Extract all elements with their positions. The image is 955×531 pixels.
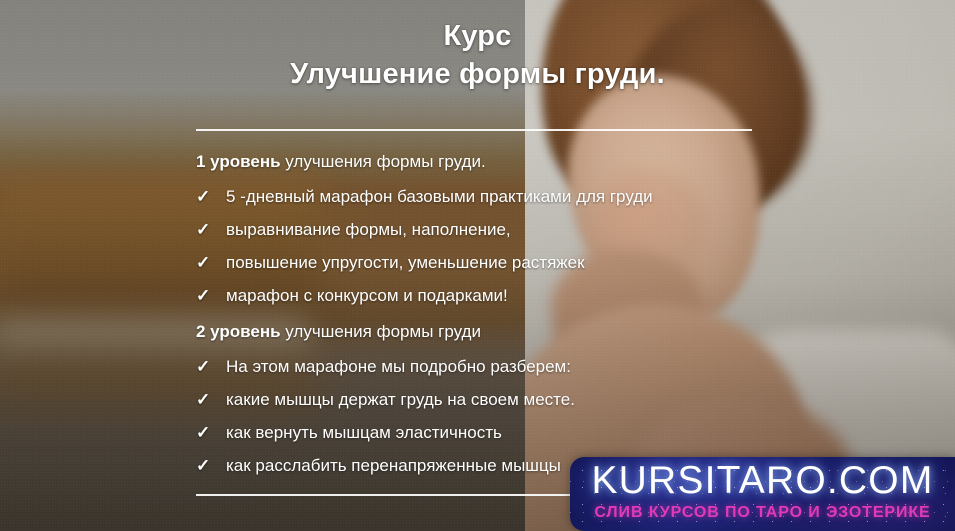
section-level-2-title: 2 уровень улучшения формы груди — [196, 320, 575, 344]
check-icon: ✓ — [196, 416, 226, 449]
section-level-1-title-strong: 1 уровень — [196, 152, 281, 171]
section-level-1: 1 уровень улучшения формы груди. ✓ 5 -дн… — [196, 150, 653, 312]
list-item: ✓ 5 -дневный марафон базовыми практиками… — [196, 180, 653, 213]
list-item: ✓ выравнивание формы, наполнение, — [196, 213, 653, 246]
list-item-label: марафон с конкурсом и подарками! — [226, 279, 508, 312]
list-item-label: выравнивание формы, наполнение, — [226, 213, 511, 246]
watermark-badge[interactable]: KURSITARO.COM СЛИВ КУРСОВ ПО ТАРО И ЭЗОТ… — [570, 457, 955, 531]
check-icon: ✓ — [196, 213, 226, 246]
check-icon: ✓ — [196, 383, 226, 416]
watermark-title: KURSITARO.COM — [570, 459, 955, 503]
content-layer: Курс Улучшение формы груди. 1 уровень ул… — [0, 0, 955, 531]
list-item-label: повышение упругости, уменьшение растяжек — [226, 246, 585, 279]
section-level-1-title: 1 уровень улучшения формы груди. — [196, 150, 653, 174]
page-title-line-2: Улучшение формы груди. — [0, 55, 955, 93]
section-level-2-list: ✓ На этом марафоне мы подробно разберем:… — [196, 350, 575, 482]
list-item: ✓ какие мышцы держат грудь на своем мест… — [196, 383, 575, 416]
page-title-line-1: Курс — [0, 17, 955, 55]
promo-slide: Курс Улучшение формы груди. 1 уровень ул… — [0, 0, 955, 531]
list-item: ✓ марафон с конкурсом и подарками! — [196, 279, 653, 312]
list-item-label: какие мышцы держат грудь на своем месте. — [226, 383, 575, 416]
divider-top — [196, 129, 752, 131]
watermark-subtitle: СЛИВ КУРСОВ ПО ТАРО И ЭЗОТЕРИКЕ — [570, 503, 955, 523]
section-level-1-title-rest: улучшения формы груди. — [281, 152, 486, 171]
list-item-label: На этом марафоне мы подробно разберем: — [226, 350, 571, 383]
check-icon: ✓ — [196, 449, 226, 482]
check-icon: ✓ — [196, 180, 226, 213]
page-title: Курс Улучшение формы груди. — [0, 17, 955, 93]
section-level-2-title-strong: 2 уровень — [196, 322, 281, 341]
list-item: ✓ На этом марафоне мы подробно разберем: — [196, 350, 575, 383]
list-item: ✓ как расслабить перенапряженные мышцы — [196, 449, 575, 482]
list-item-label: как вернуть мышцам эластичность — [226, 416, 502, 449]
list-item: ✓ как вернуть мышцам эластичность — [196, 416, 575, 449]
list-item-label: 5 -дневный марафон базовыми практиками д… — [226, 180, 653, 213]
section-level-2: 2 уровень улучшения формы груди ✓ На это… — [196, 320, 575, 482]
check-icon: ✓ — [196, 350, 226, 383]
list-item-label: как расслабить перенапряженные мышцы — [226, 449, 561, 482]
section-level-2-title-rest: улучшения формы груди — [281, 322, 481, 341]
list-item: ✓ повышение упругости, уменьшение растяж… — [196, 246, 653, 279]
section-level-1-list: ✓ 5 -дневный марафон базовыми практиками… — [196, 180, 653, 312]
check-icon: ✓ — [196, 246, 226, 279]
check-icon: ✓ — [196, 279, 226, 312]
